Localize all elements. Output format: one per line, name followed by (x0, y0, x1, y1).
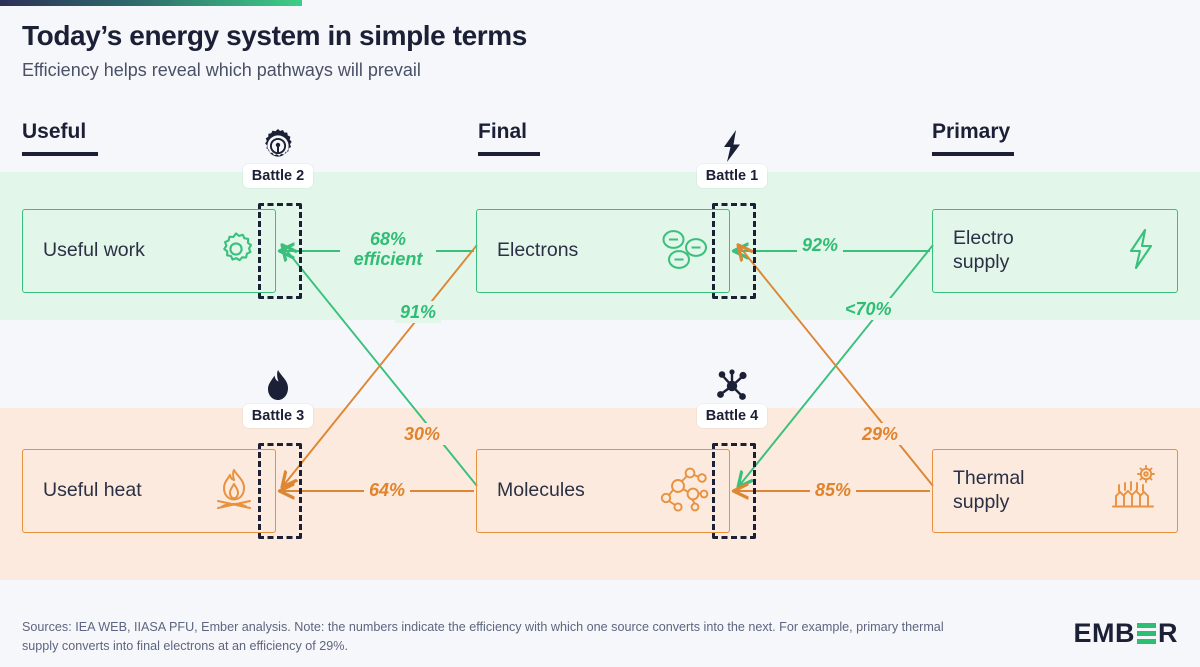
efficiency-label-electrons-to-useful-work: 68%efficient (340, 228, 436, 270)
battle-marker-3[interactable]: Battle 3 (218, 368, 338, 428)
efficiency-label-molecules-to-electrons: 91% (395, 301, 441, 323)
node-thermal-supply[interactable]: Thermalsupply (932, 449, 1178, 533)
electrons-icon (659, 226, 711, 277)
node-thermal-supply-label: Thermalsupply (953, 467, 1025, 515)
battle-marker-2-label: Battle 2 (243, 164, 313, 188)
efficiency-label-molecules-to-useful-heat: 64% (364, 479, 410, 501)
node-molecules[interactable]: Molecules (476, 449, 730, 533)
lightning-outline-icon (1123, 226, 1159, 277)
efficiency-label-thermal-to-molecules: 85% (810, 479, 856, 501)
molecule-icon (657, 464, 711, 519)
ember-logo-e-mark (1137, 623, 1156, 644)
lightning-bolt-icon (672, 128, 792, 164)
battle-zone-3-box (258, 443, 302, 539)
node-molecules-label: Molecules (497, 479, 585, 503)
efficiency-label-electrons-to-useful-heat: 30% (399, 423, 445, 445)
battle-marker-1-label: Battle 1 (697, 164, 767, 188)
battle-marker-4-label: Battle 4 (697, 404, 767, 428)
ember-logo-text-right: R (1158, 618, 1178, 649)
battle-marker-4[interactable]: Battle 4 (672, 368, 792, 428)
battle-zone-1-box (712, 203, 756, 299)
ember-logo-text-left: EMB (1074, 618, 1136, 649)
battle-zone-2-box (258, 203, 302, 299)
battle-zone-4-box (712, 443, 756, 539)
campfire-icon (211, 465, 257, 518)
node-electrons-label: Electrons (497, 239, 578, 263)
efficiency-label-electro-to-electrons: 92% (797, 234, 843, 256)
efficiency-label-electro-to-molecules: <70% (840, 298, 897, 320)
gear-cog-icon (218, 128, 338, 164)
node-electrons[interactable]: Electrons (476, 209, 730, 293)
gear-outline-icon (215, 228, 257, 275)
battle-marker-1[interactable]: Battle 1 (672, 128, 792, 188)
flame-icon (218, 368, 338, 404)
node-useful-work-label: Useful work (43, 239, 145, 263)
molecule-nodes-icon (672, 368, 792, 404)
flow-diagram-arrows (0, 0, 1200, 667)
node-useful-heat[interactable]: Useful heat (22, 449, 276, 533)
ember-logo: EMB R (1074, 616, 1179, 650)
efficiency-label-thermal-to-electrons: 29% (857, 423, 903, 445)
node-electro-supply-label: Electrosupply (953, 227, 1014, 275)
battle-marker-2[interactable]: Battle 2 (218, 128, 338, 188)
sources-note: Sources: IEA WEB, IIASA PFU, Ember analy… (22, 618, 962, 655)
node-useful-heat-label: Useful heat (43, 479, 142, 503)
node-electro-supply[interactable]: Electrosupply (932, 209, 1178, 293)
node-useful-work[interactable]: Useful work (22, 209, 276, 293)
battle-marker-3-label: Battle 3 (243, 404, 313, 428)
thermal-plant-icon (1109, 465, 1159, 518)
